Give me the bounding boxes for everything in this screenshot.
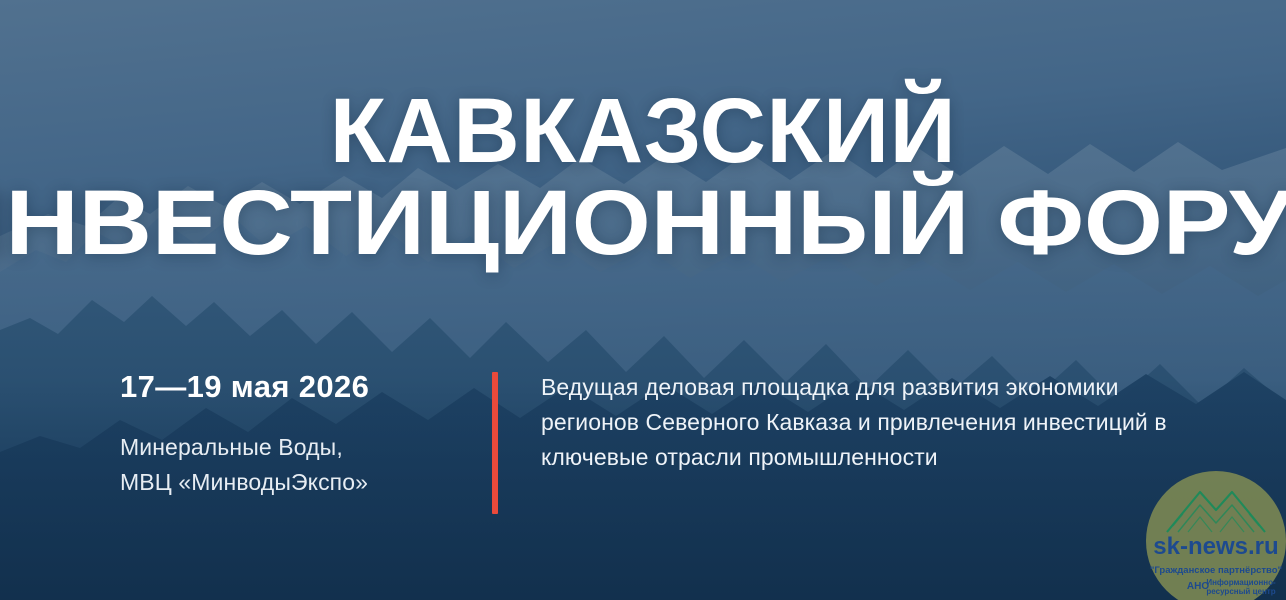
event-details: 17—19 мая 2026 Минеральные Воды, МВЦ «Ми…	[120, 366, 450, 499]
banner-info-block: 17—19 мая 2026 Минеральные Воды, МВЦ «Ми…	[120, 366, 1181, 514]
event-venue: Минеральные Воды, МВЦ «МинводыЭкспо»	[120, 430, 450, 499]
watermark-site: sk-news.ru	[1153, 533, 1278, 560]
accent-divider	[492, 372, 498, 514]
watermark-org-line1: Информационно-	[1206, 578, 1276, 587]
watermark-org-line2: ресурсный центр	[1206, 587, 1275, 596]
watermark-tagline: "Гражданское партнёрство"	[1150, 565, 1282, 576]
forum-banner: КАВКАЗСКИЙ ИНВЕСТИЦИОННЫЙ ФОРУМ 17—19 ма…	[0, 0, 1286, 600]
event-date: 17—19 мая 2026	[120, 370, 450, 404]
venue-hall: МВЦ «МинводыЭкспо»	[120, 465, 450, 500]
event-description: Ведущая деловая площадка для развития эк…	[541, 366, 1181, 475]
venue-city: Минеральные Воды,	[120, 430, 450, 465]
sk-news-watermark-logo[interactable]: sk-news.ru "Гражданское партнёрство" АНО…	[1145, 470, 1286, 600]
